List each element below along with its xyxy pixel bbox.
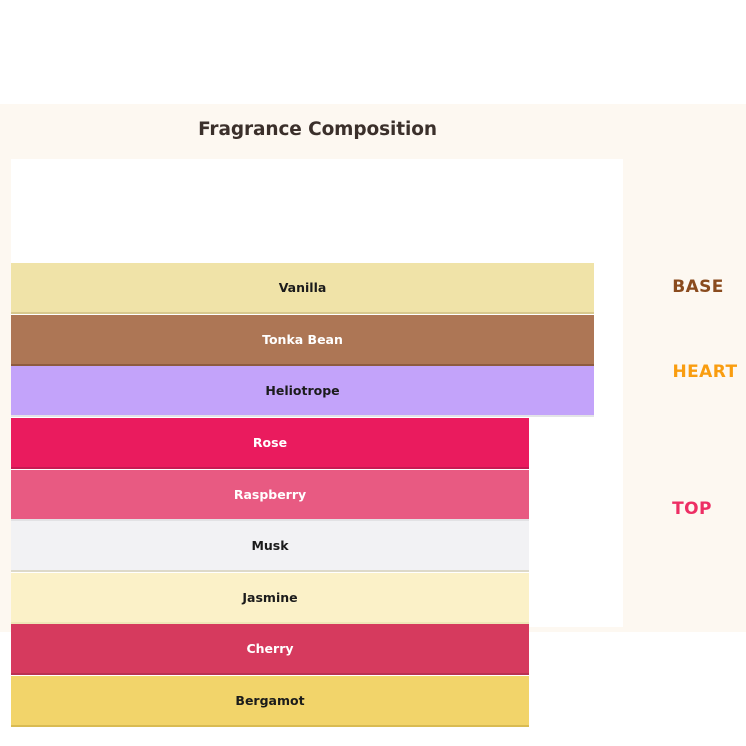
bar-heliotrope[interactable]: Heliotrope: [11, 366, 594, 417]
fragrance-composition-chart: Fragrance Composition Vanilla Tonka Bean…: [0, 104, 746, 632]
bar-cherry[interactable]: Cherry: [11, 624, 529, 675]
group-label-base: BASE: [672, 277, 724, 297]
bar-bergamot[interactable]: Bergamot: [11, 676, 529, 727]
bar-vanilla[interactable]: Vanilla: [11, 263, 594, 314]
bar-label-jasmine: Jasmine: [242, 590, 297, 605]
bars-layer: Vanilla Tonka Bean Heliotrope Rose Raspb…: [0, 104, 746, 632]
group-label-top: TOP: [672, 499, 712, 519]
bar-raspberry[interactable]: Raspberry: [11, 470, 529, 521]
group-label-heart: HEART: [673, 362, 738, 382]
bar-musk[interactable]: Musk: [11, 521, 529, 572]
bar-label-cherry: Cherry: [246, 641, 293, 656]
bar-label-tonka-bean: Tonka Bean: [262, 332, 343, 347]
bar-tonka-bean[interactable]: Tonka Bean: [11, 315, 594, 366]
bar-label-vanilla: Vanilla: [279, 280, 327, 295]
bar-label-raspberry: Raspberry: [234, 487, 306, 502]
bar-jasmine[interactable]: Jasmine: [11, 573, 529, 624]
bar-label-rose: Rose: [253, 435, 287, 450]
bar-label-bergamot: Bergamot: [235, 693, 304, 708]
bar-label-heliotrope: Heliotrope: [265, 383, 339, 398]
bar-rose[interactable]: Rose: [11, 418, 529, 469]
bar-label-musk: Musk: [251, 538, 288, 553]
